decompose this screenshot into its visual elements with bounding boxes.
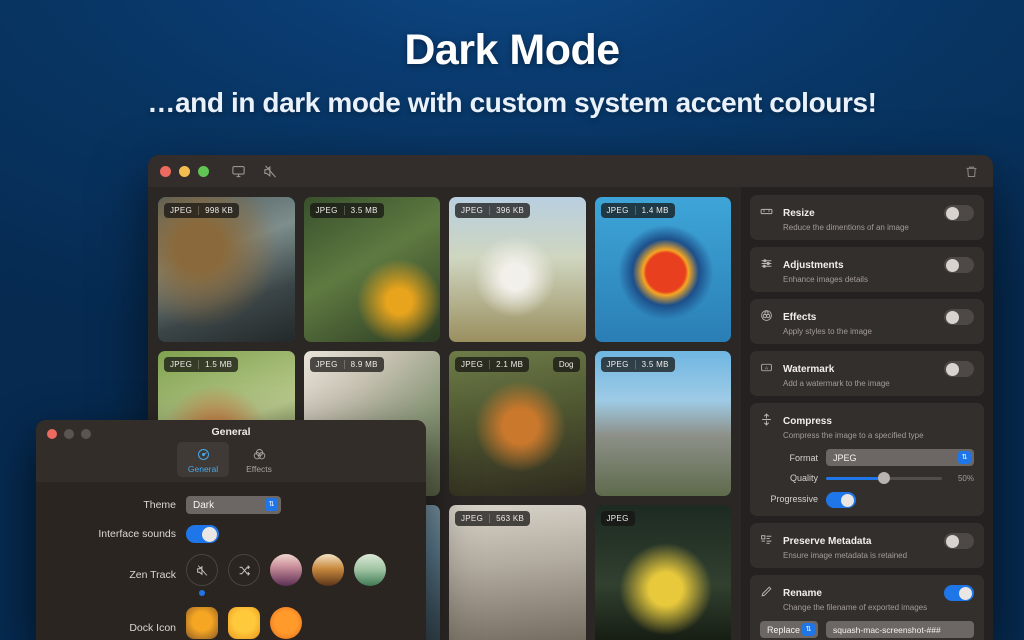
format-label: Format bbox=[760, 453, 818, 463]
sliders-icon bbox=[760, 255, 774, 270]
quality-label: Quality bbox=[760, 473, 818, 483]
window-titlebar bbox=[148, 155, 993, 187]
thumbnail-image bbox=[595, 197, 732, 342]
thumbnail[interactable]: JPEG2.1 MBDog bbox=[449, 351, 586, 496]
pencil-icon bbox=[760, 583, 774, 598]
theme-value: Dark bbox=[193, 500, 214, 511]
options-sidebar: Resize Reduce the dimentions of an image… bbox=[741, 187, 993, 640]
close-button[interactable] bbox=[160, 166, 171, 177]
zoom-button[interactable] bbox=[198, 166, 209, 177]
display-icon[interactable] bbox=[231, 164, 246, 179]
resize-icon bbox=[760, 203, 774, 218]
option-card-effects[interactable]: Effects Apply styles to the image bbox=[750, 299, 984, 344]
compress-icon bbox=[760, 411, 774, 426]
option-title: Preserve Metadata bbox=[783, 536, 871, 547]
venn-icon bbox=[233, 446, 285, 463]
chevron-updown-icon: ⇅ bbox=[958, 451, 971, 464]
thumbnail-image bbox=[595, 505, 732, 640]
chevron-updown-icon: ⇅ bbox=[265, 498, 278, 511]
thumbnail[interactable]: JPEG3.5 MB bbox=[595, 351, 732, 496]
option-title: Resize bbox=[783, 208, 815, 219]
zen-mute-icon[interactable] bbox=[186, 554, 218, 586]
track-art-2[interactable] bbox=[312, 554, 344, 586]
tab-effects[interactable]: Effects bbox=[233, 442, 285, 477]
zen-track-label: Zen Track bbox=[36, 569, 176, 581]
hero-banner: Dark Mode …and in dark mode with custom … bbox=[0, 0, 1024, 119]
interface-sounds-label: Interface sounds bbox=[36, 528, 176, 540]
adjustments-toggle[interactable] bbox=[944, 257, 974, 273]
preferences-zoom-button bbox=[81, 429, 91, 439]
page-subtitle: …and in dark mode with custom system acc… bbox=[0, 87, 1024, 119]
thumbnail[interactable]: JPEG3.5 MB bbox=[304, 197, 441, 342]
thumbnail-image bbox=[449, 351, 586, 496]
option-card-adjustments[interactable]: Adjustments Enhance images details bbox=[750, 247, 984, 292]
tab-general-label: General bbox=[188, 464, 218, 474]
zen-shuffle-icon[interactable] bbox=[228, 554, 260, 586]
mute-icon[interactable] bbox=[263, 164, 278, 179]
option-title: Rename bbox=[783, 588, 822, 599]
preferences-traffic-lights bbox=[47, 429, 91, 439]
dock-icon-1[interactable] bbox=[186, 607, 218, 639]
metadata-icon bbox=[760, 531, 774, 546]
progressive-label: Progressive bbox=[760, 494, 818, 504]
option-subtitle: Apply styles to the image bbox=[783, 327, 935, 336]
effects-icon bbox=[760, 307, 774, 322]
preserve-metadata-toggle[interactable] bbox=[944, 533, 974, 549]
thumbnail[interactable]: JPEG998 KB bbox=[158, 197, 295, 342]
option-subtitle: Compress the image to a specified type bbox=[783, 431, 974, 440]
option-title: Watermark bbox=[783, 364, 834, 375]
resize-toggle[interactable] bbox=[944, 205, 974, 221]
thumbnail[interactable]: JPEG bbox=[595, 505, 732, 640]
thumbnail[interactable]: JPEG396 KB bbox=[449, 197, 586, 342]
option-subtitle: Change the filename of exported images bbox=[783, 603, 935, 612]
format-select[interactable]: JPEG ⇅ bbox=[826, 449, 974, 466]
traffic-lights bbox=[160, 166, 209, 177]
preferences-close-button[interactable] bbox=[47, 429, 57, 439]
chevron-updown-icon: ⇅ bbox=[802, 623, 815, 636]
option-card-compress[interactable]: Compress Compress the image to a specifi… bbox=[750, 403, 984, 516]
option-title: Adjustments bbox=[783, 260, 844, 271]
option-card-preserve-metadata[interactable]: Preserve Metadata Ensure image metadata … bbox=[750, 523, 984, 568]
trash-icon[interactable] bbox=[964, 164, 979, 184]
option-card-rename[interactable]: Rename Change the filename of exported i… bbox=[750, 575, 984, 640]
preferences-titlebar: General General Effects bbox=[36, 420, 426, 482]
rename-pattern-input[interactable]: squash-mac-screenshot-### bbox=[826, 621, 974, 638]
quality-slider[interactable] bbox=[826, 477, 942, 480]
option-title: Effects bbox=[783, 312, 816, 323]
quality-percent: 50% bbox=[950, 474, 974, 483]
dock-icon-label: Dock Icon bbox=[36, 622, 176, 634]
thumbnail-image bbox=[158, 197, 295, 342]
zen-selection-dot bbox=[199, 590, 205, 596]
rename-mode-value: Replace bbox=[767, 625, 800, 635]
option-subtitle: Enhance images details bbox=[783, 275, 935, 284]
option-subtitle: Ensure image metadata is retained bbox=[783, 551, 935, 560]
thumbnail[interactable]: JPEG1.4 MB bbox=[595, 197, 732, 342]
thumbnail-image bbox=[304, 197, 441, 342]
tab-effects-label: Effects bbox=[246, 464, 272, 474]
page-title: Dark Mode bbox=[0, 26, 1024, 75]
thumbnail-image bbox=[595, 351, 732, 496]
rename-toggle[interactable] bbox=[944, 585, 974, 601]
track-art-1[interactable] bbox=[270, 554, 302, 586]
preferences-minimize-button bbox=[64, 429, 74, 439]
option-card-resize[interactable]: Resize Reduce the dimentions of an image bbox=[750, 195, 984, 240]
track-art-3[interactable] bbox=[354, 554, 386, 586]
option-title: Compress bbox=[783, 416, 832, 427]
theme-select[interactable]: Dark ⇅ bbox=[186, 496, 281, 514]
tab-general[interactable]: General bbox=[177, 442, 229, 477]
option-subtitle: Add a watermark to the image bbox=[783, 379, 935, 388]
watermark-toggle[interactable] bbox=[944, 361, 974, 377]
dock-icon-2[interactable] bbox=[228, 607, 260, 639]
thumbnail-image bbox=[449, 505, 586, 640]
preferences-title: General bbox=[46, 426, 416, 442]
format-value: JPEG bbox=[833, 453, 857, 463]
theme-label: Theme bbox=[36, 499, 176, 511]
preferences-body: Theme Dark ⇅ Interface sounds Zen Track bbox=[36, 482, 426, 640]
progressive-toggle[interactable] bbox=[826, 492, 856, 508]
option-subtitle: Reduce the dimentions of an image bbox=[783, 223, 935, 232]
thumbnail-image bbox=[449, 197, 586, 342]
gear-icon bbox=[177, 446, 229, 463]
watermark-icon: A bbox=[760, 359, 774, 374]
effects-toggle[interactable] bbox=[944, 309, 974, 325]
thumbnail[interactable]: JPEG563 KB bbox=[449, 505, 586, 640]
option-card-watermark[interactable]: A Watermark Add a watermark to the image bbox=[750, 351, 984, 396]
rename-mode-select[interactable]: Replace ⇅ bbox=[760, 621, 818, 638]
interface-sounds-toggle[interactable] bbox=[186, 525, 219, 543]
minimize-button[interactable] bbox=[179, 166, 190, 177]
dock-icon-3[interactable] bbox=[270, 607, 302, 639]
preferences-window: General General Effects Theme Dark ⇅ bbox=[36, 420, 426, 640]
